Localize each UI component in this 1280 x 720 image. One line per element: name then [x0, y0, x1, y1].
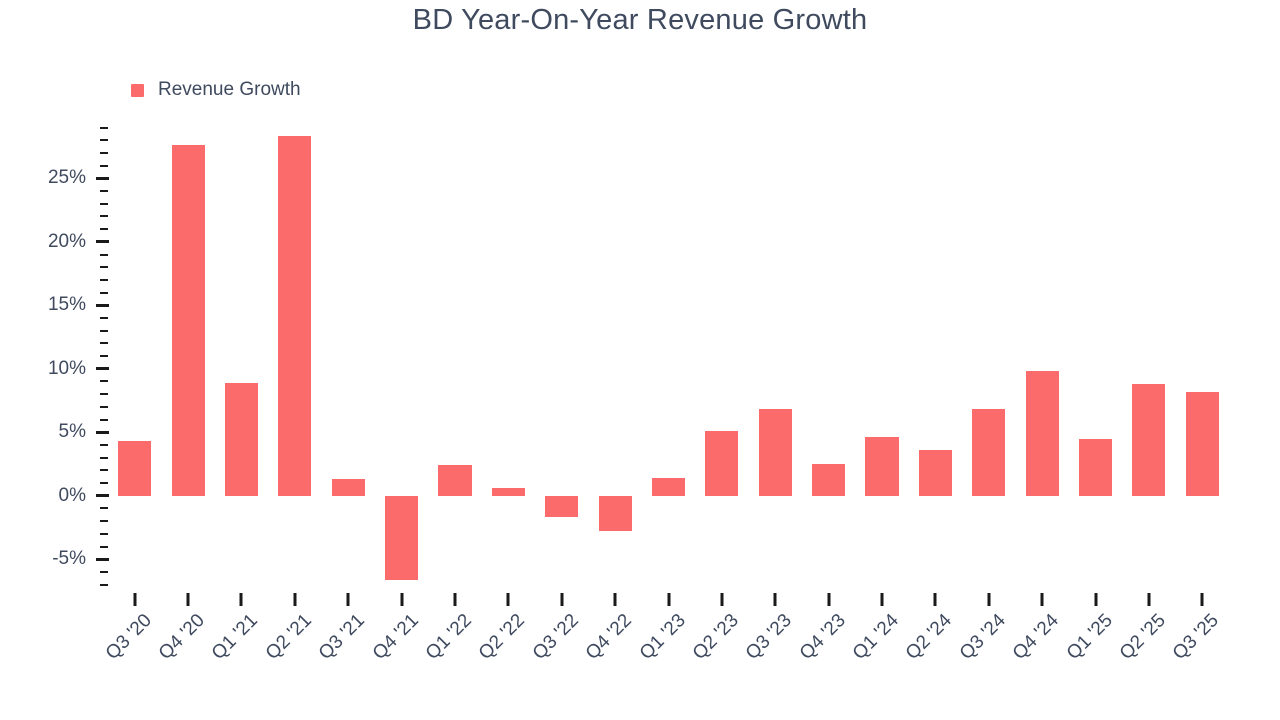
x-tick: [1147, 593, 1150, 606]
bar: [225, 383, 258, 496]
y-tick-minor: [100, 507, 108, 509]
x-tick-label: Q3 '24: [956, 610, 1011, 665]
bar: [1186, 392, 1219, 496]
y-tick-minor: [100, 380, 108, 382]
x-tick-label: Q2 '21: [262, 610, 317, 665]
chart-legend: Revenue Growth: [131, 79, 301, 101]
y-tick-minor: [100, 482, 108, 484]
x-tick: [1094, 593, 1097, 606]
x-tick-label: Q3 '21: [315, 610, 370, 665]
x-tick-label: Q1 '21: [208, 610, 263, 665]
y-tick-minor: [100, 139, 108, 141]
bar: [385, 496, 418, 580]
y-tick-minor: [100, 228, 108, 230]
x-tick-label: Q2 '23: [689, 610, 744, 665]
y-tick-label: 0%: [59, 485, 86, 507]
y-tick-minor: [100, 330, 108, 332]
x-tick: [560, 593, 563, 606]
legend-label-revenue-growth: Revenue Growth: [158, 79, 301, 101]
bar: [919, 450, 952, 496]
x-tick: [400, 593, 403, 606]
bar: [705, 431, 738, 496]
y-tick-minor: [100, 292, 108, 294]
x-tick: [934, 593, 937, 606]
x-tick: [1201, 593, 1204, 606]
y-tick-minor: [100, 266, 108, 268]
bar: [438, 465, 471, 495]
plot-area: [108, 125, 1229, 591]
bar: [972, 409, 1005, 495]
x-tick: [347, 593, 350, 606]
x-tick: [881, 593, 884, 606]
y-tick-minor: [100, 469, 108, 471]
x-tick-label: Q3 '23: [742, 610, 797, 665]
bar: [759, 409, 792, 495]
x-tick: [667, 593, 670, 606]
x-tick-label: Q4 '21: [368, 610, 423, 665]
x-tick-label: Q2 '24: [902, 610, 957, 665]
y-tick-label: 20%: [48, 231, 86, 253]
x-tick: [240, 593, 243, 606]
x-tick-label: Q3 '22: [529, 610, 584, 665]
x-tick: [614, 593, 617, 606]
x-tick-label: Q3 '25: [1169, 610, 1224, 665]
y-tick-minor: [100, 152, 108, 154]
y-tick-label: 10%: [48, 358, 86, 380]
x-tick-label: Q1 '25: [1062, 610, 1117, 665]
y-tick-label: 25%: [48, 167, 86, 189]
y-tick-minor: [100, 254, 108, 256]
x-tick: [293, 593, 296, 606]
y-tick-minor: [100, 317, 108, 319]
y-axis-tick-labels: 25%20%15%10%5%0%-5%: [0, 125, 86, 591]
x-tick-label: Q4 '23: [795, 610, 850, 665]
bar: [332, 479, 365, 496]
bar-series-revenue-growth: [108, 125, 1229, 591]
chart-title: BD Year-On-Year Revenue Growth: [0, 4, 1280, 37]
y-tick-label: 5%: [59, 421, 86, 443]
x-tick: [453, 593, 456, 606]
x-tick: [720, 593, 723, 606]
x-tick: [987, 593, 990, 606]
x-tick-label: Q4 '20: [155, 610, 210, 665]
x-tick-label: Q1 '23: [635, 610, 690, 665]
bar: [865, 437, 898, 495]
bar: [492, 488, 525, 496]
y-tick-minor: [100, 419, 108, 421]
x-tick: [133, 593, 136, 606]
bar: [118, 441, 151, 496]
y-tick-minor: [100, 584, 108, 586]
y-tick-minor: [100, 127, 108, 129]
y-tick-minor: [100, 355, 108, 357]
bar: [278, 136, 311, 495]
y-tick-minor: [100, 444, 108, 446]
x-tick: [827, 593, 830, 606]
y-tick-minor: [100, 342, 108, 344]
x-tick-label: Q2 '25: [1116, 610, 1171, 665]
legend-swatch-revenue-growth: [131, 84, 144, 97]
y-axis-ticks: [96, 125, 108, 591]
bar: [172, 145, 205, 495]
x-tick-label: Q4 '24: [1009, 610, 1064, 665]
y-tick-minor: [100, 203, 108, 205]
x-axis-tick-labels: Q3 '20Q4 '20Q1 '21Q2 '21Q3 '21Q4 '21Q1 '…: [108, 610, 1229, 720]
bar: [599, 496, 632, 532]
x-tick-label: Q1 '22: [422, 610, 477, 665]
bar: [652, 478, 685, 496]
bar: [812, 464, 845, 496]
x-tick-label: Q1 '24: [849, 610, 904, 665]
bar-chart: BD Year-On-Year Revenue Growth Revenue G…: [0, 0, 1280, 720]
y-tick-label: 15%: [48, 294, 86, 316]
x-tick-label: Q3 '20: [102, 610, 157, 665]
x-axis-ticks: [108, 591, 1229, 607]
y-tick-minor: [100, 215, 108, 217]
y-tick-minor: [100, 571, 108, 573]
x-tick-label: Q4 '22: [582, 610, 637, 665]
y-tick-minor: [100, 457, 108, 459]
y-tick-minor: [100, 406, 108, 408]
bar: [545, 496, 578, 518]
y-tick-minor: [100, 190, 108, 192]
bar: [1079, 439, 1112, 496]
y-tick-minor: [100, 546, 108, 548]
bar: [1132, 384, 1165, 496]
y-tick-minor: [100, 533, 108, 535]
x-tick: [774, 593, 777, 606]
x-tick: [1041, 593, 1044, 606]
y-tick-minor: [100, 165, 108, 167]
x-tick: [507, 593, 510, 606]
x-tick: [187, 593, 190, 606]
bar: [1026, 371, 1059, 495]
y-tick-minor: [100, 279, 108, 281]
y-tick-minor: [100, 393, 108, 395]
y-tick-minor: [100, 520, 108, 522]
y-tick-label: -5%: [52, 548, 86, 570]
x-tick-label: Q2 '22: [475, 610, 530, 665]
